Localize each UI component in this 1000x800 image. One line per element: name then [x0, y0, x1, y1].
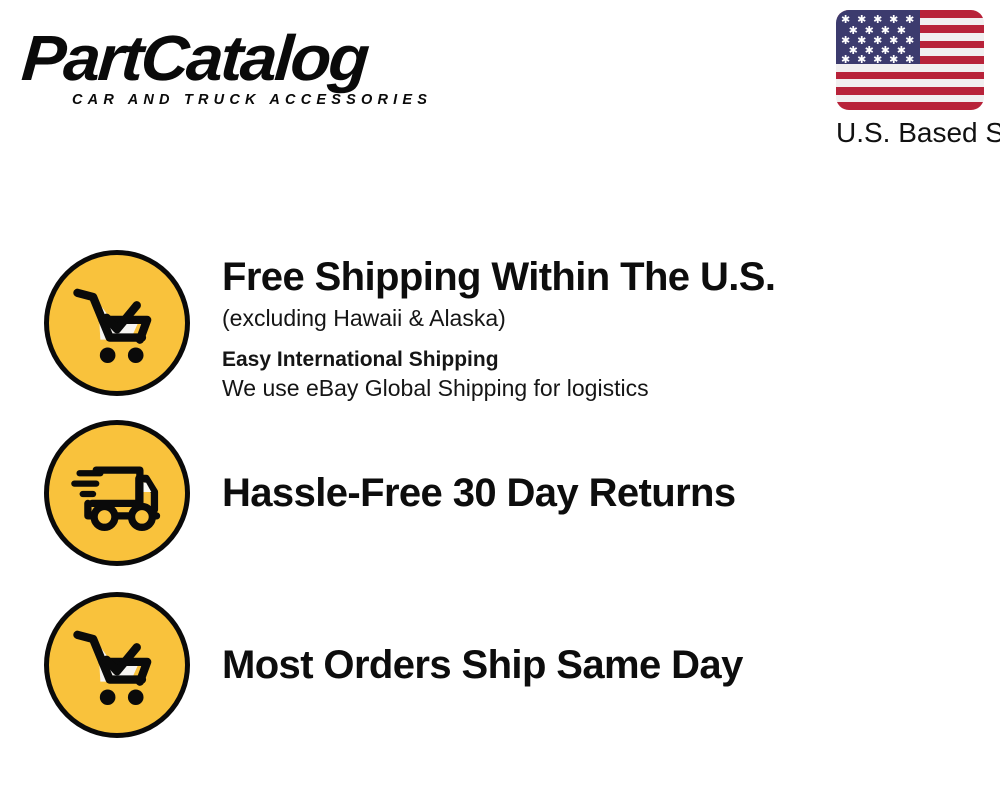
- us-flag-icon: ✱ ✱ ✱ ✱ ✱ ✱ ✱ ✱ ✱ ✱ ✱ ✱ ✱ ✱ ✱ ✱ ✱ ✱ ✱ ✱: [836, 10, 984, 110]
- shopping-cart-check-glyph: [65, 613, 169, 717]
- us-based-seller-label: U.S. Based Seller: [836, 117, 984, 149]
- flag-stripe: [836, 95, 984, 103]
- feature-text: Most Orders Ship Same Day: [222, 592, 982, 738]
- feature-text: Free Shipping Within The U.S. (excluding…: [222, 250, 982, 402]
- page-header: PartCatalog CAR AND TRUCK ACCESSORIES ✱ …: [0, 0, 1000, 170]
- feature-row: Most Orders Ship Same Day: [44, 592, 984, 738]
- fast-delivery-truck-icon: [44, 420, 190, 566]
- feature-headline: Most Orders Ship Same Day: [222, 644, 743, 686]
- brand-wordmark: PartCatalog: [20, 26, 513, 90]
- feature-text: Hassle-Free 30 Day Returns: [222, 420, 982, 566]
- feature-subline-international-title: Easy International Shipping: [222, 346, 982, 373]
- flag-stripe: [836, 79, 984, 87]
- flag-stripe: [836, 102, 984, 110]
- feature-row: Hassle-Free 30 Day Returns: [44, 420, 984, 566]
- feature-subline-exclusions: (excluding Hawaii & Alaska): [222, 304, 982, 334]
- shopping-cart-check-icon: [44, 250, 190, 396]
- feature-headline: Hassle-Free 30 Day Returns: [222, 472, 736, 514]
- shopping-cart-check-icon: [44, 592, 190, 738]
- flag-stripe: [836, 87, 984, 95]
- feature-subline-international-detail: We use eBay Global Shipping for logistic…: [222, 374, 982, 404]
- feature-headline: Free Shipping Within The U.S.: [222, 256, 982, 298]
- us-based-seller-badge: ✱ ✱ ✱ ✱ ✱ ✱ ✱ ✱ ✱ ✱ ✱ ✱ ✱ ✱ ✱ ✱ ✱ ✱ ✱ ✱: [836, 10, 986, 149]
- shopping-cart-check-glyph: [65, 271, 169, 375]
- brand-tagline: CAR AND TRUCK ACCESSORIES: [72, 92, 492, 108]
- brand-logo[interactable]: PartCatalog CAR AND TRUCK ACCESSORIES: [22, 26, 492, 108]
- flag-canton: ✱ ✱ ✱ ✱ ✱ ✱ ✱ ✱ ✱ ✱ ✱ ✱ ✱ ✱ ✱ ✱ ✱ ✱ ✱ ✱: [836, 10, 920, 64]
- fast-delivery-truck-glyph: [65, 441, 169, 545]
- feature-row: Free Shipping Within The U.S. (excluding…: [44, 250, 984, 396]
- flag-stripe: [836, 72, 984, 80]
